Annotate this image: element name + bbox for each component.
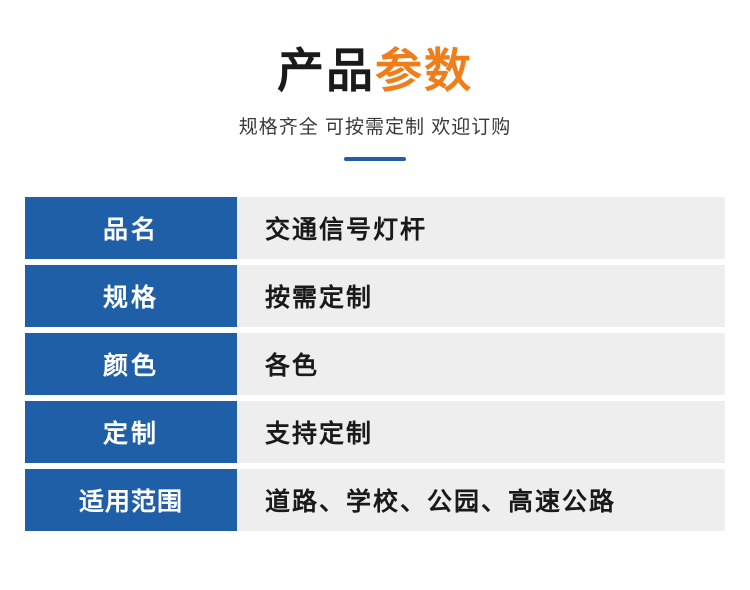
spec-label-shiyongfanwei: 适用范围 (25, 469, 237, 531)
spec-label-yanse: 颜色 (25, 333, 237, 395)
spec-label-pinming: 品名 (25, 197, 237, 259)
spec-value-shiyongfanwei: 道路、学校、公园、高速公路 (237, 469, 725, 531)
table-row: 规格 按需定制 (25, 265, 725, 327)
table-row: 定制 支持定制 (25, 401, 725, 463)
spec-value-yanse: 各色 (237, 333, 725, 395)
page-subtitle: 规格齐全 可按需定制 欢迎订购 (0, 112, 750, 139)
title-divider (344, 157, 406, 161)
page-header: 产品参数 规格齐全 可按需定制 欢迎订购 (0, 0, 750, 161)
page-title: 产品参数 (0, 44, 750, 98)
table-row: 颜色 各色 (25, 333, 725, 395)
spec-value-pinming: 交通信号灯杆 (237, 197, 725, 259)
spec-label-guige: 规格 (25, 265, 237, 327)
spec-value-guige: 按需定制 (237, 265, 725, 327)
page-title-main: 产品 (277, 44, 375, 97)
table-row: 适用范围 道路、学校、公园、高速公路 (25, 469, 725, 531)
page-title-accent: 参数 (375, 44, 473, 97)
table-row: 品名 交通信号灯杆 (25, 197, 725, 259)
spec-table: 品名 交通信号灯杆 规格 按需定制 颜色 各色 定制 支持定制 适用范围 道路、… (25, 191, 725, 537)
spec-value-dingzhi: 支持定制 (237, 401, 725, 463)
spec-label-dingzhi: 定制 (25, 401, 237, 463)
product-spec-page: 产品参数 规格齐全 可按需定制 欢迎订购 品名 交通信号灯杆 规格 按需定制 颜… (0, 0, 750, 590)
